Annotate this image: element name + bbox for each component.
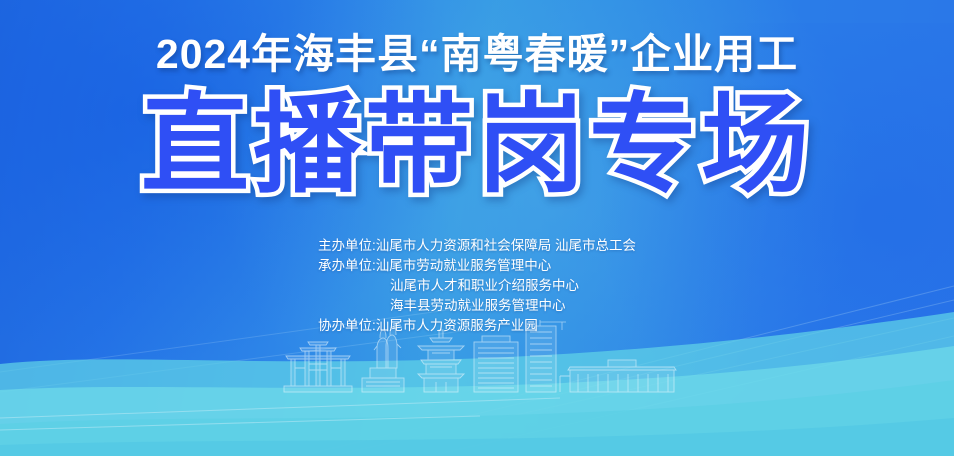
organizer-line-organizer-2: 汕尾市人才和职业介绍服务中心 (318, 276, 636, 296)
organizer-line-organizer-3: 海丰县劳动就业服务管理中心 (318, 296, 636, 316)
headline-text: 2024年海丰县“南粤春暖”企业用工 (0, 34, 954, 75)
event-banner: 2024年海丰县“南粤春暖”企业用工 直播带岗专场 主办单位:汕尾市人力资源和社… (0, 0, 954, 456)
civic-hall-icon (560, 360, 676, 392)
statue-monument-icon (362, 327, 404, 392)
paifang-archway-icon (284, 342, 352, 392)
organizer-line-host: 主办单位:汕尾市人力资源和社会保障局 汕尾市总工会 (318, 236, 636, 256)
organizer-line-co-organizer: 协办单位:汕尾市人力资源服务产业园 (318, 316, 636, 336)
office-highrise-icon (474, 336, 518, 392)
organizer-line-organizer: 承办单位:汕尾市劳动就业服务管理中心 (318, 256, 636, 276)
page-title: 直播带岗专场 (0, 88, 954, 201)
pagoda-tower-icon (418, 330, 464, 392)
organizer-block: 主办单位:汕尾市人力资源和社会保障局 汕尾市总工会 承办单位:汕尾市劳动就业服务… (0, 236, 954, 336)
